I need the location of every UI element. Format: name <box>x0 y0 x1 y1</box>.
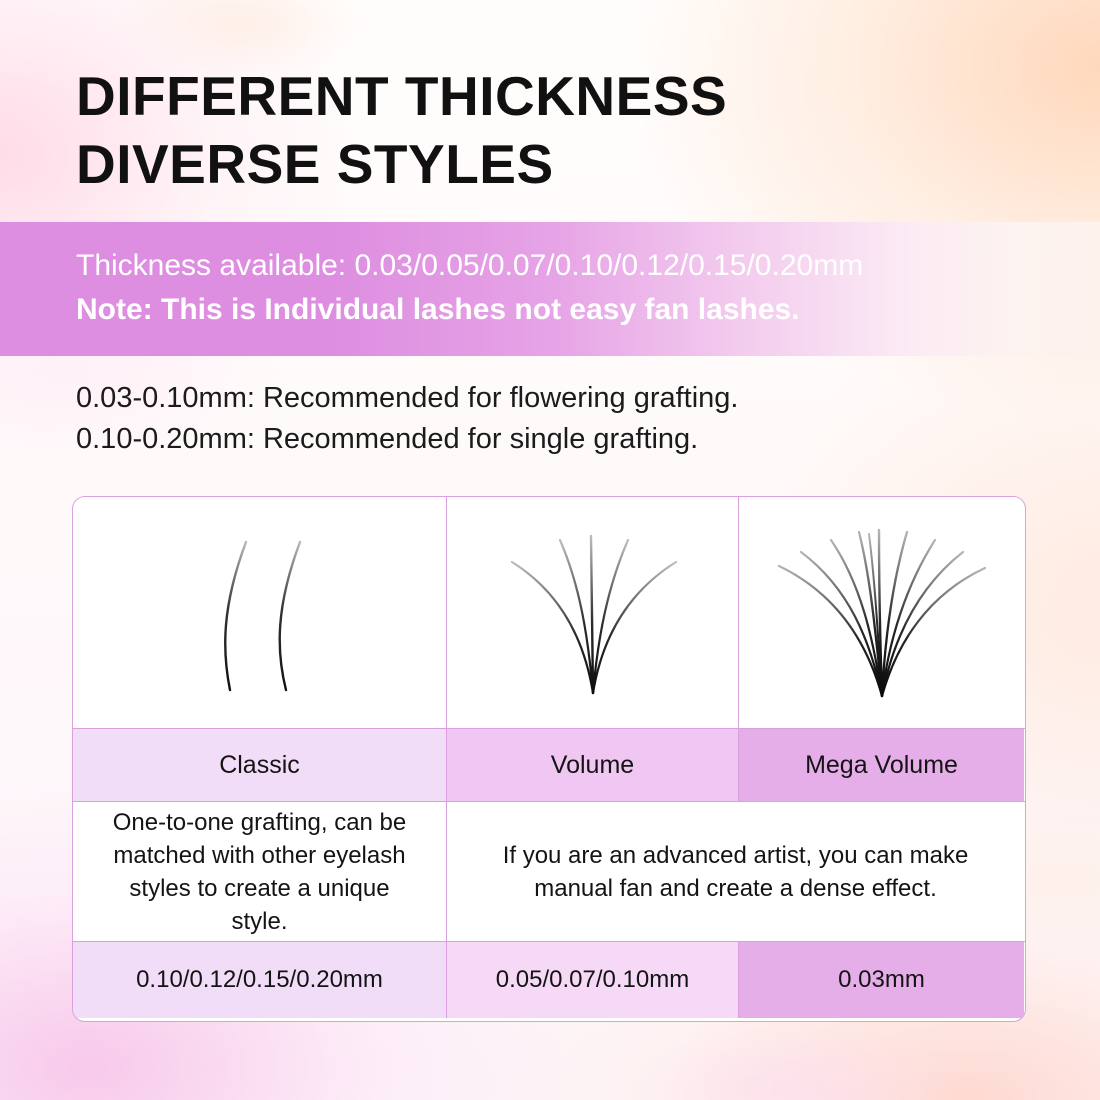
thickness-available-text: Thickness available: 0.03/0.05/0.07/0.10… <box>76 244 1060 288</box>
description-classic-cell: One-to-one grafting, can be matched with… <box>73 802 447 941</box>
classic-lash-illustration-cell <box>73 497 447 728</box>
spec-volume: 0.05/0.07/0.10mm <box>496 966 689 994</box>
table-row-illustrations <box>73 497 1025 729</box>
style-label-volume-cell: Volume <box>447 729 739 801</box>
recommendation-line-1: 0.03-0.10mm: Recommended for flowering g… <box>76 378 976 419</box>
style-label-volume: Volume <box>551 751 634 780</box>
description-volume-mega-cell: If you are an advanced artist, you can m… <box>447 802 1024 941</box>
recommendation-line-2: 0.10-0.20mm: Recommended for single graf… <box>76 419 976 460</box>
spec-mega-volume-cell: 0.03mm <box>739 942 1024 1018</box>
spec-volume-cell: 0.05/0.07/0.10mm <box>447 942 739 1018</box>
banner-note-text: Note: This is Individual lashes not easy… <box>76 288 1060 332</box>
lash-style-comparison-table: Classic Volume Mega Volume One-to-one gr… <box>72 496 1026 1022</box>
thickness-banner: Thickness available: 0.03/0.05/0.07/0.10… <box>0 222 1100 356</box>
description-classic: One-to-one grafting, can be matched with… <box>73 806 446 938</box>
spec-classic-cell: 0.10/0.12/0.15/0.20mm <box>73 942 447 1018</box>
classic-lash-illustration <box>160 518 360 708</box>
style-label-mega-volume: Mega Volume <box>805 751 958 780</box>
mega-volume-fan-illustration <box>767 518 997 708</box>
spec-mega-volume: 0.03mm <box>838 966 925 994</box>
style-label-classic: Classic <box>219 751 300 780</box>
volume-fan-illustration-cell <box>447 497 739 728</box>
infographic-page: DIFFERENT THICKNESS DIVERSE STYLES Thick… <box>0 0 1100 1100</box>
description-volume-mega: If you are an advanced artist, you can m… <box>447 839 1024 905</box>
table-row-descriptions: One-to-one grafting, can be matched with… <box>73 802 1025 942</box>
style-label-classic-cell: Classic <box>73 729 447 801</box>
recommendation-list: 0.03-0.10mm: Recommended for flowering g… <box>76 378 976 460</box>
table-row-style-labels: Classic Volume Mega Volume <box>73 729 1025 802</box>
table-row-thickness-specs: 0.10/0.12/0.15/0.20mm 0.05/0.07/0.10mm 0… <box>73 942 1025 1018</box>
page-title-line-2: DIVERSE STYLES <box>76 130 976 198</box>
volume-fan-illustration <box>488 518 698 708</box>
mega-volume-fan-illustration-cell <box>739 497 1024 728</box>
spec-classic: 0.10/0.12/0.15/0.20mm <box>136 966 383 994</box>
page-title: DIFFERENT THICKNESS DIVERSE STYLES <box>76 62 976 198</box>
thickness-banner-content: Thickness available: 0.03/0.05/0.07/0.10… <box>76 244 1060 332</box>
page-title-line-1: DIFFERENT THICKNESS <box>76 62 976 130</box>
style-label-mega-volume-cell: Mega Volume <box>739 729 1024 801</box>
